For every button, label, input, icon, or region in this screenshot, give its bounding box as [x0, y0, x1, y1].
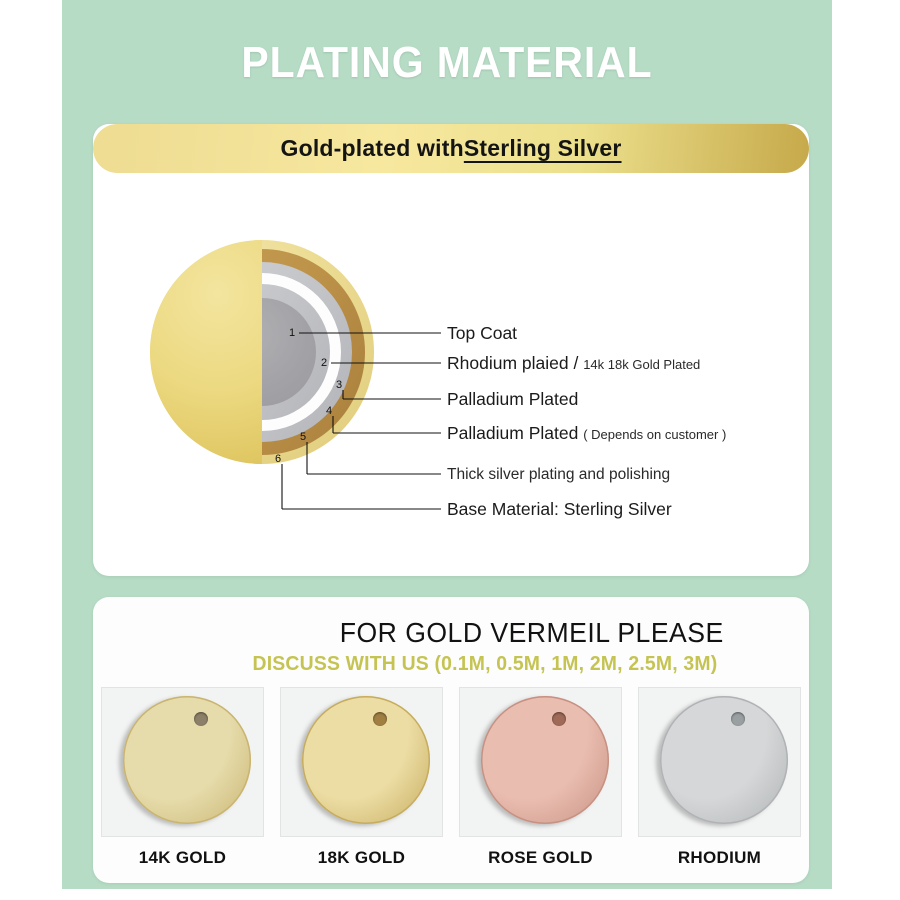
layer-label-6-text: Base Material: Sterling Silver: [447, 499, 672, 519]
layer-label-3: Palladium Plated: [447, 391, 578, 409]
gold-banner-text: Gold-plated with Sterling Silver: [93, 124, 809, 173]
vermeil-headline: FOR GOLD VERMEIL PLEASE: [111, 617, 791, 649]
swatch-rose-gold[interactable]: ROSE GOLD: [459, 687, 622, 868]
swatch-photo-rhodium: [638, 687, 801, 837]
disc-hole-icon: [731, 712, 745, 726]
swatch-18k-gold[interactable]: 18K GOLD: [280, 687, 443, 868]
layer-label-3-text: Palladium Plated: [447, 389, 578, 409]
page-title: PLATING MATERIAL: [89, 38, 805, 88]
plating-diagram-card: Gold-plated with Sterling Silver: [93, 124, 809, 576]
layer-label-2: Rhodium plaied / 14k 18k Gold Plated: [447, 355, 700, 373]
disc-hole-icon: [552, 712, 566, 726]
disc-rose-gold: [481, 696, 609, 824]
layer-label-4-note: ( Depends on customer ): [583, 427, 726, 442]
swatch-row: 14K GOLD 18K GOLD ROSE GOL: [101, 687, 801, 868]
layer-label-5-text: Thick silver plating and polishing: [447, 466, 670, 483]
layer-label-1-text: Top Coat: [447, 323, 517, 343]
banner-text-underlined: Sterling Silver: [464, 135, 622, 162]
layer-label-6: Base Material: Sterling Silver: [447, 501, 672, 519]
swatch-label-14k-gold: 14K GOLD: [101, 848, 264, 868]
vermeil-subheadline: DISCUSS WITH US (0.1M, 0.5M, 1M, 2M, 2.5…: [104, 653, 799, 676]
swatch-label-18k-gold: 18K GOLD: [280, 848, 443, 868]
swatch-14k-gold[interactable]: 14K GOLD: [101, 687, 264, 868]
gold-vermeil-card: FOR GOLD VERMEIL PLEASE DISCUSS WITH US …: [93, 597, 809, 883]
disc-18k-gold: [302, 696, 430, 824]
swatch-label-rose-gold: ROSE GOLD: [459, 848, 622, 868]
cutaway-sphere-diagram: [150, 240, 374, 464]
plating-material-infographic: PLATING MATERIAL Gold-plated with Sterli…: [0, 0, 900, 900]
disc-hole-icon: [194, 712, 208, 726]
swatch-label-rhodium: RHODIUM: [638, 848, 801, 868]
layer-label-2-text: Rhodium plaied /: [447, 353, 578, 373]
disc-hole-icon: [373, 712, 387, 726]
disc-14k-gold: [123, 696, 251, 824]
swatch-photo-14k-gold: [101, 687, 264, 837]
layer-label-4-text: Palladium Plated: [447, 423, 578, 443]
layer-label-5: Thick silver plating and polishing: [447, 467, 670, 483]
disc-rhodium: [660, 696, 788, 824]
banner-text-plain: Gold-plated with: [280, 135, 463, 162]
swatch-photo-18k-gold: [280, 687, 443, 837]
swatch-photo-rose-gold: [459, 687, 622, 837]
layer-label-2-note: 14k 18k Gold Plated: [583, 357, 700, 372]
layer-label-1: Top Coat: [447, 325, 517, 343]
swatch-rhodium[interactable]: RHODIUM: [638, 687, 801, 868]
layer-label-4: Palladium Plated ( Depends on customer ): [447, 425, 726, 443]
